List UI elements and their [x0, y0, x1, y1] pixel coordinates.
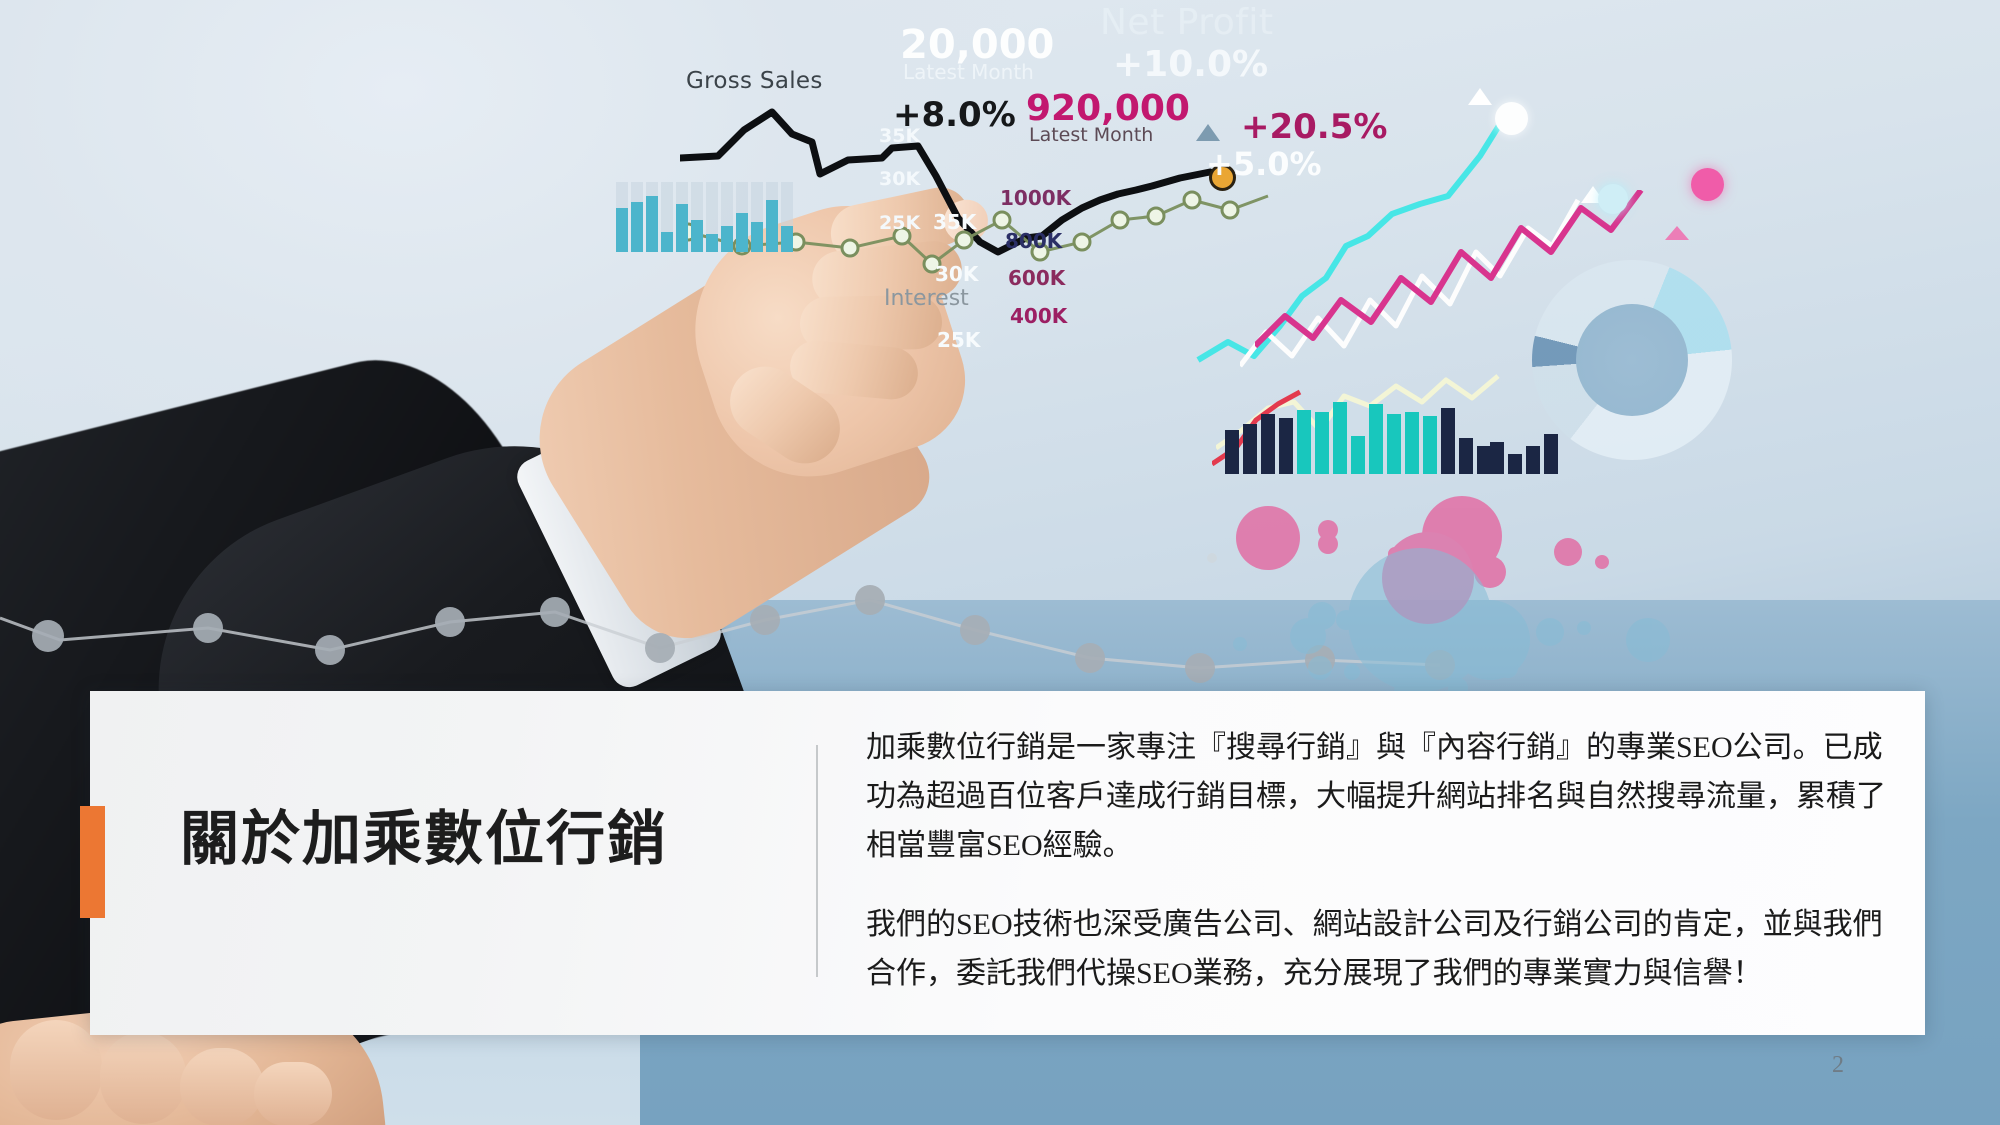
latest-month-2-value: 920,000	[1026, 88, 1190, 129]
delta-205-label: +20.5%	[1241, 107, 1387, 147]
page-number: 2	[1832, 1052, 1844, 1079]
slide-root: Gross Sales Interest Net Profit 20,000 L…	[0, 0, 2000, 1125]
net-profit-label: Net Profit	[1100, 2, 1274, 43]
paragraph-2: 我們的SEO技術也深受廣告公司、網站設計公司及行銷公司的肯定，並與我們合作，委託…	[866, 901, 1888, 999]
axis-tick-mid-30k: 30K	[935, 262, 978, 286]
axis-tick-mid-35k: 35K	[933, 210, 976, 234]
axis-tick-mid-25k: 25K	[937, 328, 980, 352]
latest-month-1-caption: Latest Month	[903, 60, 1034, 84]
data-point-pink	[1691, 168, 1724, 201]
axis-tick-left-35k: 35K	[879, 125, 920, 147]
axis-tick-right-1000k: 1000K	[1000, 186, 1071, 210]
delta-10-label: +10.0%	[1113, 44, 1268, 85]
axis-tick-left-25k: 25K	[879, 212, 920, 234]
accent-bar	[80, 806, 105, 918]
axis-tick-left-30k: 30K	[879, 168, 920, 190]
axis-tick-right-800k: 800K	[1005, 229, 1062, 253]
page-title: 關於加乘數位行銷	[180, 806, 740, 872]
body-copy: 加乘數位行銷是一家專注『搜尋行銷』與『內容行銷』的專業SEO公司。已成功為超過百…	[866, 724, 1888, 998]
gross-sales-label: Gross Sales	[686, 68, 823, 94]
axis-tick-right-400k: 400K	[1010, 304, 1067, 328]
donut-hole	[1576, 304, 1688, 416]
mini-bar-chart	[614, 182, 800, 252]
data-point-white	[1495, 102, 1528, 135]
latest-month-2-caption: Latest Month	[1029, 124, 1153, 146]
data-point-cyan	[1598, 184, 1628, 214]
delta-5-label: +5.0%	[1206, 145, 1322, 183]
vertical-divider	[816, 745, 818, 977]
axis-tick-right-600k: 600K	[1008, 266, 1065, 290]
triangle-up-icon-d	[1665, 226, 1689, 240]
triangle-up-icon-a	[1196, 124, 1220, 141]
paragraph-1: 加乘數位行銷是一家專注『搜尋行銷』與『內容行銷』的專業SEO公司。已成功為超過百…	[866, 724, 1888, 871]
interest-label: Interest	[884, 286, 969, 311]
triangle-up-icon-b	[1468, 88, 1492, 105]
